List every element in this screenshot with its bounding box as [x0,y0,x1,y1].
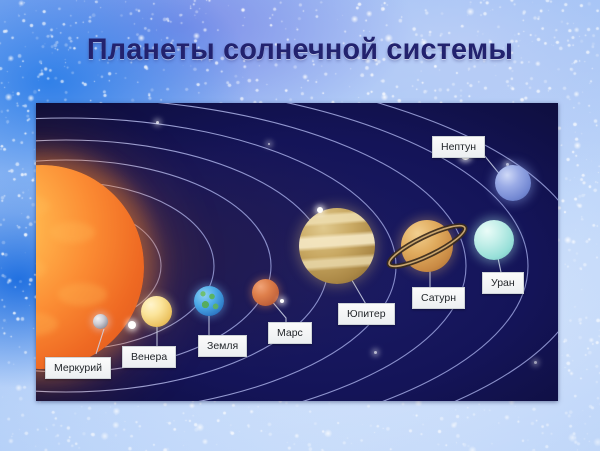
star-speck [534,361,537,364]
moon-near-jupiter [317,207,323,213]
planet-jupiter[interactable] [299,208,375,284]
saturn-ring [379,211,475,281]
planet-earth[interactable] [194,286,224,316]
label-saturn[interactable]: Сатурн [412,287,465,309]
label-venus[interactable]: Венера [122,346,176,368]
star-speck [156,121,159,124]
page-title: Планеты солнечной системы [12,33,588,67]
label-neptune[interactable]: Нептун [432,136,485,158]
moon-near-mars [280,299,284,303]
label-jupiter[interactable]: Юпитер [338,303,395,325]
slide-canvas: Планеты солнечной системы [0,0,600,451]
planet-neptune[interactable] [495,165,531,201]
star-speck [268,143,270,145]
planet-saturn[interactable] [401,220,453,272]
star-speck [374,351,377,354]
planet-mercury[interactable] [93,314,108,329]
planet-mars[interactable] [252,279,279,306]
label-mercury[interactable]: Меркурий [45,357,111,379]
planet-uranus[interactable] [474,220,514,260]
label-mars[interactable]: Марс [268,322,312,344]
label-uranus[interactable]: Уран [482,272,524,294]
label-earth[interactable]: Земля [198,335,247,357]
planet-venus[interactable] [141,296,172,327]
bright-speck-near-venus [128,321,136,329]
